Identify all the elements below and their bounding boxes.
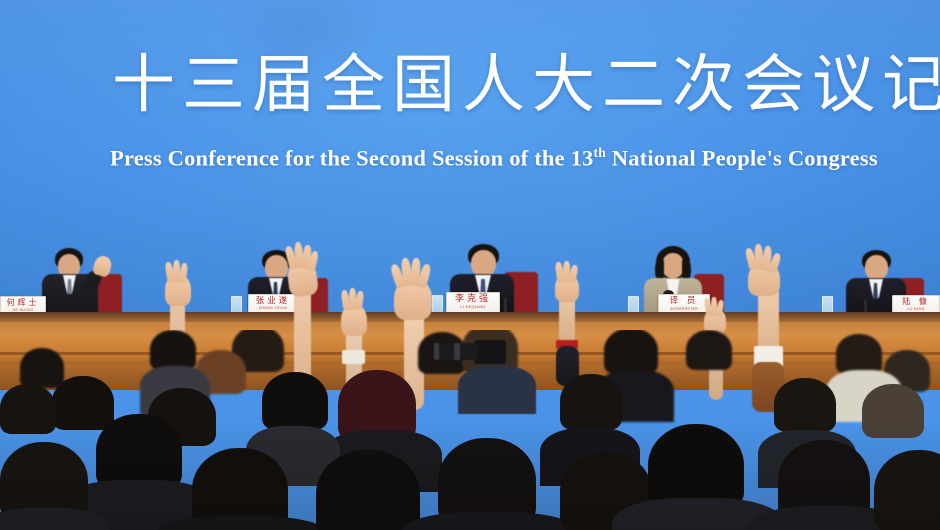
audience-head (52, 376, 114, 430)
mic-head-3 (499, 289, 510, 298)
banner-title-english: Press Conference for the Second Session … (110, 145, 878, 172)
camera-body (474, 340, 506, 364)
camera-lens-ring (434, 343, 439, 360)
audience-head (836, 334, 882, 374)
banner-en-ordinal: th (594, 145, 606, 160)
audience-head (560, 374, 622, 430)
nameplate-1-cn: 何辉士 (7, 299, 40, 307)
microphone-5 (856, 289, 876, 314)
nameplate-3: 李克强 LI KEQIANG (446, 292, 500, 313)
banner-en-part1: Press Conference for the Second Session … (110, 146, 594, 171)
audience-head (686, 330, 732, 370)
nameplate-3-cn: 李克强 (455, 295, 491, 304)
head-3 (471, 250, 496, 277)
mic-head-5 (859, 291, 870, 300)
nameplate-3-en: LI KEQIANG (460, 306, 486, 310)
audience-head (150, 330, 196, 370)
audience-head (316, 450, 420, 530)
audience-head (20, 348, 64, 388)
audience-head (96, 414, 182, 490)
audience-head (604, 330, 658, 374)
audience-head (862, 384, 924, 438)
head-4 (662, 253, 684, 278)
audience-press-corps (0, 330, 940, 530)
audience-shoulders (402, 512, 578, 530)
photographer-shoulders (458, 366, 536, 414)
banner-title-chinese: 十三届全国人大二次会议记者会 (112, 52, 940, 118)
nameplate-5-en: LU KANG (907, 308, 925, 311)
audience-head (0, 384, 56, 434)
photographer (428, 332, 548, 402)
nameplate-4-en: INTERPRETER (670, 308, 698, 311)
nameplate-5-cn: 陆 慷 (902, 298, 930, 306)
audience-head (774, 378, 836, 432)
press-conference-photo: 十三届全国人大二次会议记者会 Press Conference for the … (0, 0, 940, 530)
banner-en-part2: National People's Congress (606, 146, 878, 171)
panelist-1 (28, 248, 148, 318)
camera-focus-ring (454, 343, 460, 360)
audience-head (874, 450, 940, 530)
head-5 (865, 255, 888, 280)
audience-head (262, 372, 328, 430)
nameplate-4-cn: 译 员 (670, 297, 699, 306)
